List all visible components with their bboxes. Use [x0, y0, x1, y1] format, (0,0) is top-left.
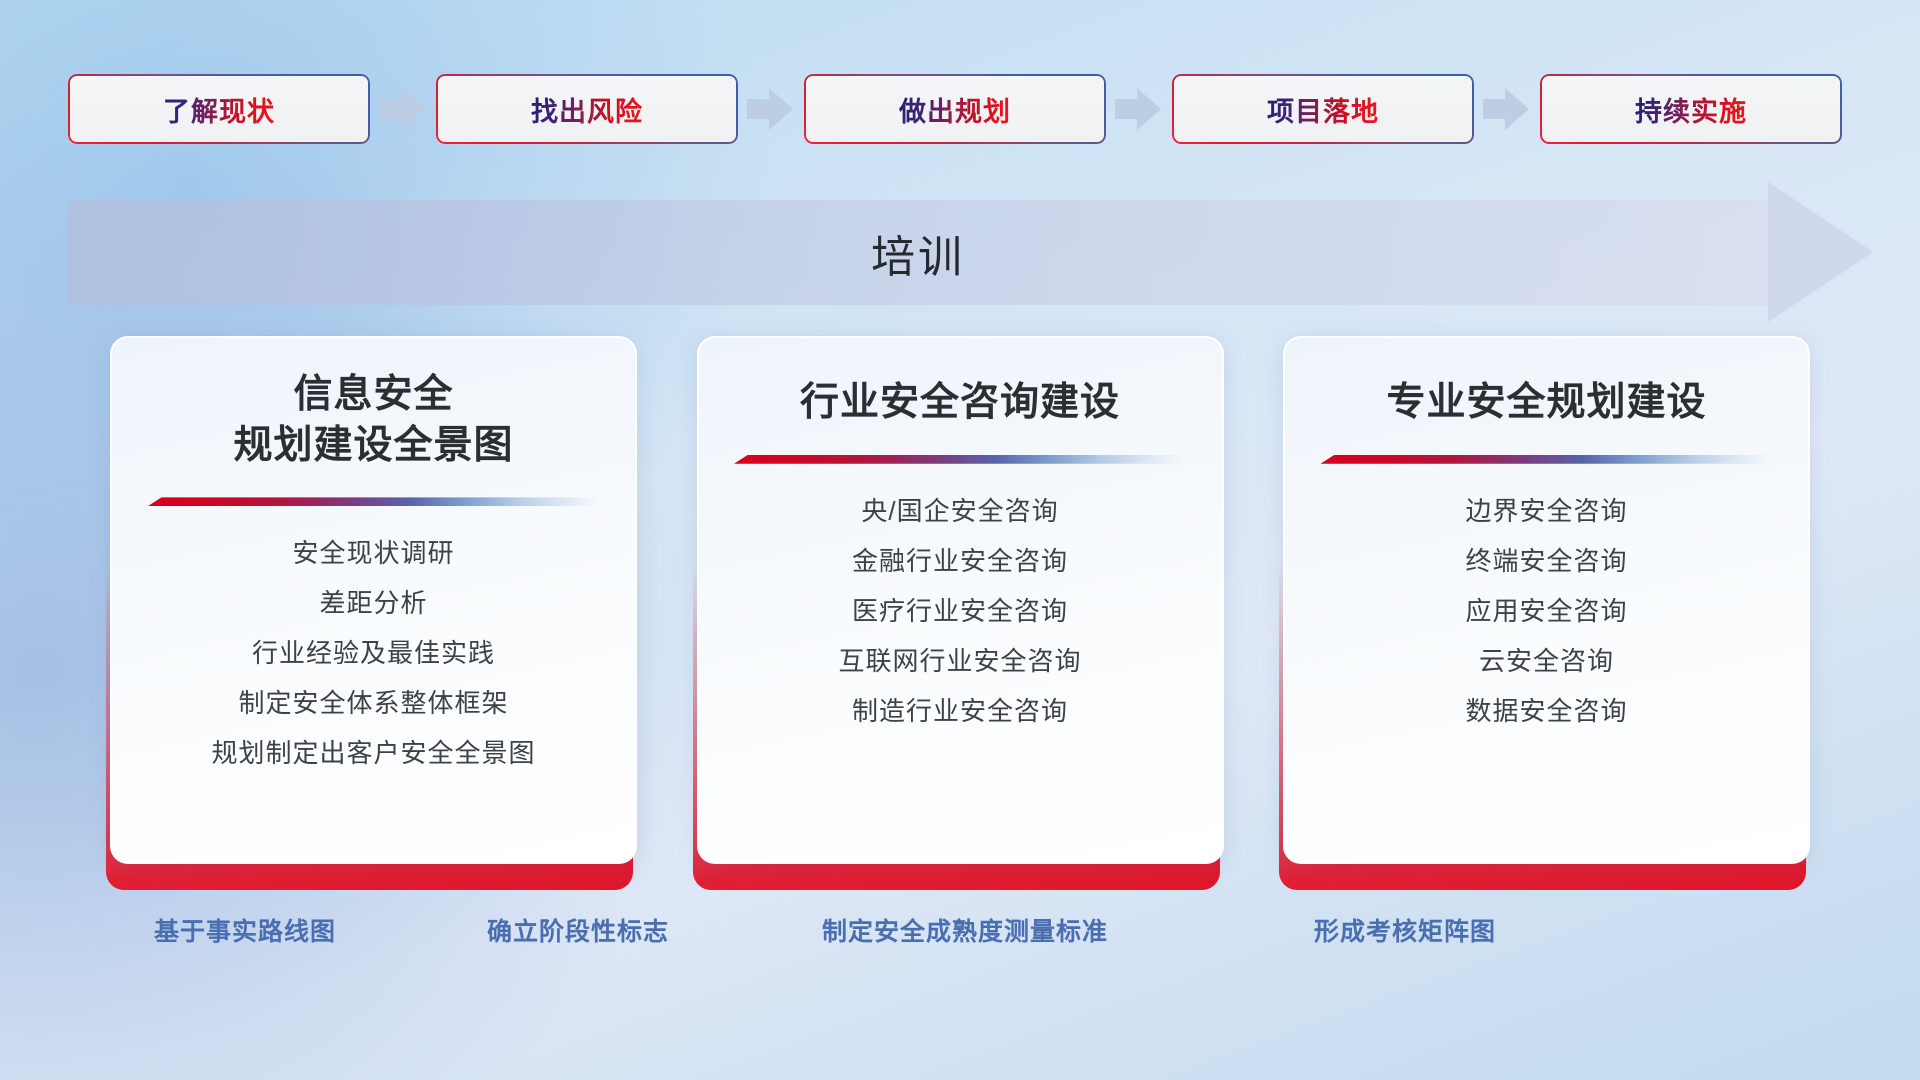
slide-canvas: 了解现状 找出风险 做出规划 项目落地 持续实施: [0, 0, 1920, 1080]
list-item: 应用安全咨询: [1465, 598, 1627, 624]
arrow-tail: [1115, 99, 1139, 119]
training-banner: 培训: [68, 200, 1858, 305]
banner-arrow-tip-icon: [1768, 182, 1873, 322]
step-box-3[interactable]: 做出规划: [804, 74, 1106, 144]
card-list-2: 央/国企安全咨询 金融行业安全咨询 医疗行业安全咨询 互联网行业安全咨询 制造行…: [699, 498, 1222, 724]
list-item: 终端安全咨询: [1465, 548, 1627, 574]
step-box-5[interactable]: 持续实施: [1540, 74, 1842, 144]
step-label-4: 项目落地: [1267, 90, 1379, 129]
step-box-1[interactable]: 了解现状: [68, 74, 370, 144]
list-item: 行业经验及最佳实践: [252, 640, 495, 666]
caption-4: 形成考核矩阵图: [1314, 912, 1496, 948]
list-item: 云安全咨询: [1479, 648, 1614, 674]
card-title-line-1: 行业安全咨询建设: [725, 378, 1195, 429]
step-connector-arrow-icon-2: [738, 86, 804, 132]
list-item: 医疗行业安全咨询: [852, 598, 1068, 624]
card-title-2: 行业安全咨询建设: [725, 378, 1195, 429]
card-divider-1: [148, 497, 600, 506]
divider-gradient-bar: [734, 455, 1186, 464]
card-list-1: 安全现状调研 差距分析 行业经验及最佳实践 制定安全体系整体框架 规划制定出客户…: [112, 540, 635, 766]
card-list-3: 边界安全咨询 终端安全咨询 应用安全咨询 云安全咨询 数据安全咨询: [1285, 498, 1808, 724]
card-title-line-1: 专业安全规划建设: [1312, 378, 1782, 429]
card-title-line-1: 信息安全: [139, 370, 609, 421]
caption-3: 制定安全成熟度测量标准: [822, 912, 1108, 948]
step-box-2[interactable]: 找出风险: [436, 74, 738, 144]
process-step-row: 了解现状 找出风险 做出规划 项目落地 持续实施: [68, 73, 1858, 145]
step-label-5: 持续实施: [1635, 90, 1747, 129]
card-1[interactable]: 信息安全 规划建设全景图 安全现状调研 差距分析 行业经验及最佳实践 制定安全体…: [110, 336, 637, 876]
list-item: 制定安全体系整体框架: [238, 690, 508, 716]
step-box-4[interactable]: 项目落地: [1172, 74, 1474, 144]
arrow-head: [769, 88, 793, 130]
arrow-tail: [379, 99, 403, 119]
card-3[interactable]: 专业安全规划建设 边界安全咨询 终端安全咨询 应用安全咨询 云安全咨询 数据安全…: [1283, 336, 1810, 876]
card-row: 信息安全 规划建设全景图 安全现状调研 差距分析 行业经验及最佳实践 制定安全体…: [110, 336, 1810, 881]
card-face-1: 信息安全 规划建设全景图 安全现状调研 差距分析 行业经验及最佳实践 制定安全体…: [110, 336, 637, 864]
list-item: 央/国企安全咨询: [861, 498, 1058, 524]
arrow-head: [1137, 88, 1161, 130]
list-item: 差距分析: [319, 590, 427, 616]
caption-2: 确立阶段性标志: [487, 912, 669, 948]
arrow-tail: [747, 99, 771, 119]
caption-1: 基于事实路线图: [154, 912, 336, 948]
card-title-line-2: 规划建设全景图: [139, 421, 609, 472]
step-connector-arrow-icon-3: [1106, 86, 1172, 132]
step-label-3: 做出规划: [899, 90, 1011, 129]
banner-title: 培训: [68, 200, 1768, 305]
card-divider-2: [734, 455, 1186, 464]
step-connector-arrow-icon-4: [1474, 86, 1540, 132]
list-item: 数据安全咨询: [1465, 698, 1627, 724]
card-divider-3: [1321, 455, 1773, 464]
caption-row: 基于事实路线图 确立阶段性标志 制定安全成熟度测量标准 形成考核矩阵图: [0, 912, 1920, 956]
list-item: 互联网行业安全咨询: [838, 648, 1081, 674]
divider-gradient-bar: [148, 497, 600, 506]
list-item: 安全现状调研: [292, 540, 454, 566]
card-title-1: 信息安全 规划建设全景图: [139, 370, 609, 471]
list-item: 制造行业安全咨询: [852, 698, 1068, 724]
step-label-2: 找出风险: [531, 90, 643, 129]
list-item: 金融行业安全咨询: [852, 548, 1068, 574]
arrow-head: [401, 88, 425, 130]
card-2[interactable]: 行业安全咨询建设 央/国企安全咨询 金融行业安全咨询 医疗行业安全咨询 互联网行…: [697, 336, 1224, 876]
divider-gradient-bar: [1321, 455, 1773, 464]
list-item: 边界安全咨询: [1465, 498, 1627, 524]
step-label-1: 了解现状: [163, 90, 275, 129]
list-item: 规划制定出客户安全全景图: [211, 740, 535, 766]
arrow-head: [1505, 88, 1529, 130]
card-face-3: 专业安全规划建设 边界安全咨询 终端安全咨询 应用安全咨询 云安全咨询 数据安全…: [1283, 336, 1810, 864]
card-title-3: 专业安全规划建设: [1312, 378, 1782, 429]
arrow-tail: [1483, 99, 1507, 119]
step-connector-arrow-icon-1: [370, 86, 436, 132]
card-face-2: 行业安全咨询建设 央/国企安全咨询 金融行业安全咨询 医疗行业安全咨询 互联网行…: [697, 336, 1224, 864]
